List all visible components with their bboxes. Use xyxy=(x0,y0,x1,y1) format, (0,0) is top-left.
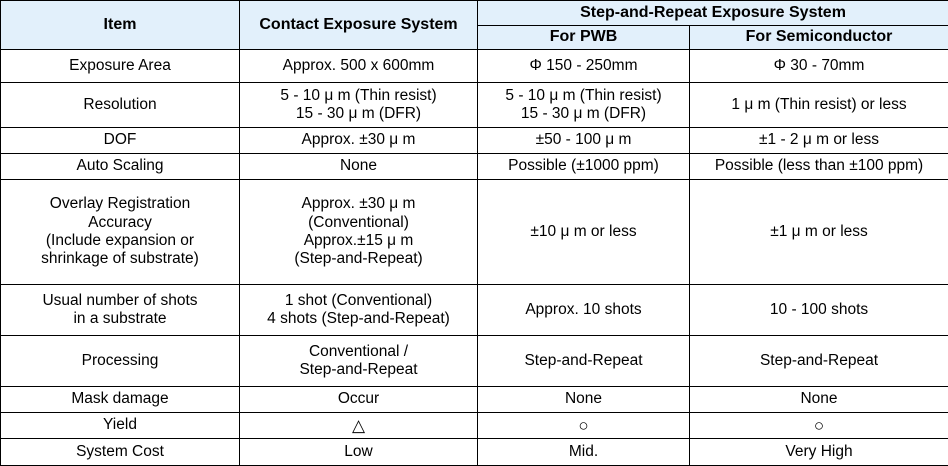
cell-item: Processing xyxy=(1,335,240,386)
cell-for-semiconductor: ±1 - 2 μ m or less xyxy=(690,127,948,153)
table-header: Item Contact Exposure System Step-and-Re… xyxy=(1,1,948,50)
cell-for-pwb: Φ 150 - 250mm xyxy=(478,49,690,82)
cell-item: Overlay RegistrationAccuracy(Include exp… xyxy=(1,179,240,284)
cell-line: Possible (less than ±100 ppm) xyxy=(694,157,944,175)
table-row: DOFApprox. ±30 μ m±50 - 100 μ m±1 - 2 μ … xyxy=(1,127,948,153)
header-row-top: Item Contact Exposure System Step-and-Re… xyxy=(1,1,948,26)
cell-line: Low xyxy=(244,443,473,461)
table-row: Exposure AreaApprox. 500 x 600mmΦ 150 - … xyxy=(1,49,948,82)
cell-line: 15 - 30 μ m (DFR) xyxy=(482,105,685,123)
cell-for-pwb: ±50 - 100 μ m xyxy=(478,127,690,153)
cell-for-semiconductor: Possible (less than ±100 ppm) xyxy=(690,153,948,179)
table-row: Auto ScalingNonePossible (±1000 ppm)Poss… xyxy=(1,153,948,179)
table-row: ProcessingConventional /Step-and-RepeatS… xyxy=(1,335,948,386)
cell-for-pwb: None xyxy=(478,386,690,412)
cell-line: ○ xyxy=(482,417,685,434)
table-row: Yield△○○ xyxy=(1,412,948,438)
cell-line: △ xyxy=(244,417,473,434)
cell-contact-exposure-system: Approx. ±30 μ m xyxy=(240,127,478,153)
cell-for-pwb: Step-and-Repeat xyxy=(478,335,690,386)
cell-item: Exposure Area xyxy=(1,49,240,82)
cell-contact-exposure-system: Approx. ±30 μ m(Conventional)Approx.±15 … xyxy=(240,179,478,284)
cell-line: Accuracy xyxy=(5,214,235,232)
cell-for-pwb: 5 - 10 μ m (Thin resist)15 - 30 μ m (DFR… xyxy=(478,82,690,127)
cell-for-semiconductor: 1 μ m (Thin resist) or less xyxy=(690,82,948,127)
cell-line: (Conventional) xyxy=(244,214,473,232)
table-row: Mask damageOccurNoneNone xyxy=(1,386,948,412)
column-header-item: Item xyxy=(1,1,240,50)
table-row: Resolution5 - 10 μ m (Thin resist)15 - 3… xyxy=(1,82,948,127)
exposure-system-comparison-table: Item Contact Exposure System Step-and-Re… xyxy=(0,0,948,466)
cell-line: Step-and-Repeat xyxy=(694,352,944,370)
cell-line: Possible (±1000 ppm) xyxy=(482,157,685,175)
table-row: Usual number of shotsin a substrate1 sho… xyxy=(1,284,948,335)
cell-line: Processing xyxy=(5,352,235,370)
cell-line: Mid. xyxy=(482,443,685,461)
table-row: System CostLowMid.Very High xyxy=(1,438,948,465)
cell-contact-exposure-system: Approx. 500 x 600mm xyxy=(240,49,478,82)
cell-line: 10 - 100 shots xyxy=(694,301,944,319)
cell-line: System Cost xyxy=(5,443,235,461)
cell-line: Approx. 500 x 600mm xyxy=(244,57,473,75)
cell-line: Step-and-Repeat xyxy=(244,361,473,379)
cell-line: Step-and-Repeat xyxy=(482,352,685,370)
cell-line: (Step-and-Repeat) xyxy=(244,250,473,268)
cell-line: Occur xyxy=(244,390,473,408)
cell-line: Approx. ±30 μ m xyxy=(244,131,473,149)
table-body: Exposure AreaApprox. 500 x 600mmΦ 150 - … xyxy=(1,49,948,465)
cell-for-semiconductor: 10 - 100 shots xyxy=(690,284,948,335)
cell-line: shrinkage of substrate) xyxy=(5,250,235,268)
cell-line: 15 - 30 μ m (DFR) xyxy=(244,105,473,123)
cell-for-semiconductor: ±1 μ m or less xyxy=(690,179,948,284)
column-header-for-semiconductor: For Semiconductor xyxy=(690,26,948,50)
column-header-step-and-repeat-exposure-system: Step-and-Repeat Exposure System xyxy=(478,1,948,26)
cell-contact-exposure-system: 1 shot (Conventional)4 shots (Step-and-R… xyxy=(240,284,478,335)
cell-item: Usual number of shotsin a substrate xyxy=(1,284,240,335)
cell-line: Φ 150 - 250mm xyxy=(482,57,685,75)
cell-item: Auto Scaling xyxy=(1,153,240,179)
cell-line: Very High xyxy=(694,443,944,461)
cell-contact-exposure-system: None xyxy=(240,153,478,179)
cell-line: 1 μ m (Thin resist) or less xyxy=(694,96,944,114)
cell-line: Exposure Area xyxy=(5,57,235,75)
cell-line: Yield xyxy=(5,416,235,434)
cell-item: Mask damage xyxy=(1,386,240,412)
cell-for-semiconductor: ○ xyxy=(690,412,948,438)
cell-for-pwb: Mid. xyxy=(478,438,690,465)
cell-line: Overlay Registration xyxy=(5,195,235,213)
cell-line: 5 - 10 μ m (Thin resist) xyxy=(482,87,685,105)
cell-for-semiconductor: Φ 30 - 70mm xyxy=(690,49,948,82)
cell-for-semiconductor: Very High xyxy=(690,438,948,465)
cell-line: 1 shot (Conventional) xyxy=(244,292,473,310)
cell-line: Approx. 10 shots xyxy=(482,301,685,319)
cell-line: Mask damage xyxy=(5,390,235,408)
cell-line: Auto Scaling xyxy=(5,157,235,175)
cell-line: 5 - 10 μ m (Thin resist) xyxy=(244,87,473,105)
cell-line: Φ 30 - 70mm xyxy=(694,57,944,75)
cell-line: Approx.±15 μ m xyxy=(244,232,473,250)
cell-line: Approx. ±30 μ m xyxy=(244,195,473,213)
cell-line: None xyxy=(244,157,473,175)
cell-for-pwb: Approx. 10 shots xyxy=(478,284,690,335)
cell-line: ±10 μ m or less xyxy=(482,223,685,241)
cell-line: Usual number of shots xyxy=(5,292,235,310)
cell-for-pwb: Possible (±1000 ppm) xyxy=(478,153,690,179)
cell-line: ±50 - 100 μ m xyxy=(482,131,685,149)
cell-contact-exposure-system: Conventional /Step-and-Repeat xyxy=(240,335,478,386)
table-row: Overlay RegistrationAccuracy(Include exp… xyxy=(1,179,948,284)
cell-contact-exposure-system: △ xyxy=(240,412,478,438)
cell-item: System Cost xyxy=(1,438,240,465)
cell-contact-exposure-system: 5 - 10 μ m (Thin resist)15 - 30 μ m (DFR… xyxy=(240,82,478,127)
cell-line: ±1 - 2 μ m or less xyxy=(694,131,944,149)
cell-line: (Include expansion or xyxy=(5,232,235,250)
cell-line: in a substrate xyxy=(5,310,235,328)
cell-line: ±1 μ m or less xyxy=(694,223,944,241)
cell-line: None xyxy=(482,390,685,408)
cell-for-semiconductor: Step-and-Repeat xyxy=(690,335,948,386)
cell-contact-exposure-system: Occur xyxy=(240,386,478,412)
cell-line: Resolution xyxy=(5,96,235,114)
cell-for-pwb: ±10 μ m or less xyxy=(478,179,690,284)
cell-line: DOF xyxy=(5,131,235,149)
cell-line: Conventional / xyxy=(244,343,473,361)
cell-line: ○ xyxy=(694,417,944,434)
cell-line: None xyxy=(694,390,944,408)
cell-item: Resolution xyxy=(1,82,240,127)
cell-for-semiconductor: None xyxy=(690,386,948,412)
column-header-contact-exposure-system: Contact Exposure System xyxy=(240,1,478,50)
cell-for-pwb: ○ xyxy=(478,412,690,438)
cell-line: 4 shots (Step-and-Repeat) xyxy=(244,310,473,328)
cell-item: DOF xyxy=(1,127,240,153)
column-header-for-pwb: For PWB xyxy=(478,26,690,50)
cell-item: Yield xyxy=(1,412,240,438)
cell-contact-exposure-system: Low xyxy=(240,438,478,465)
